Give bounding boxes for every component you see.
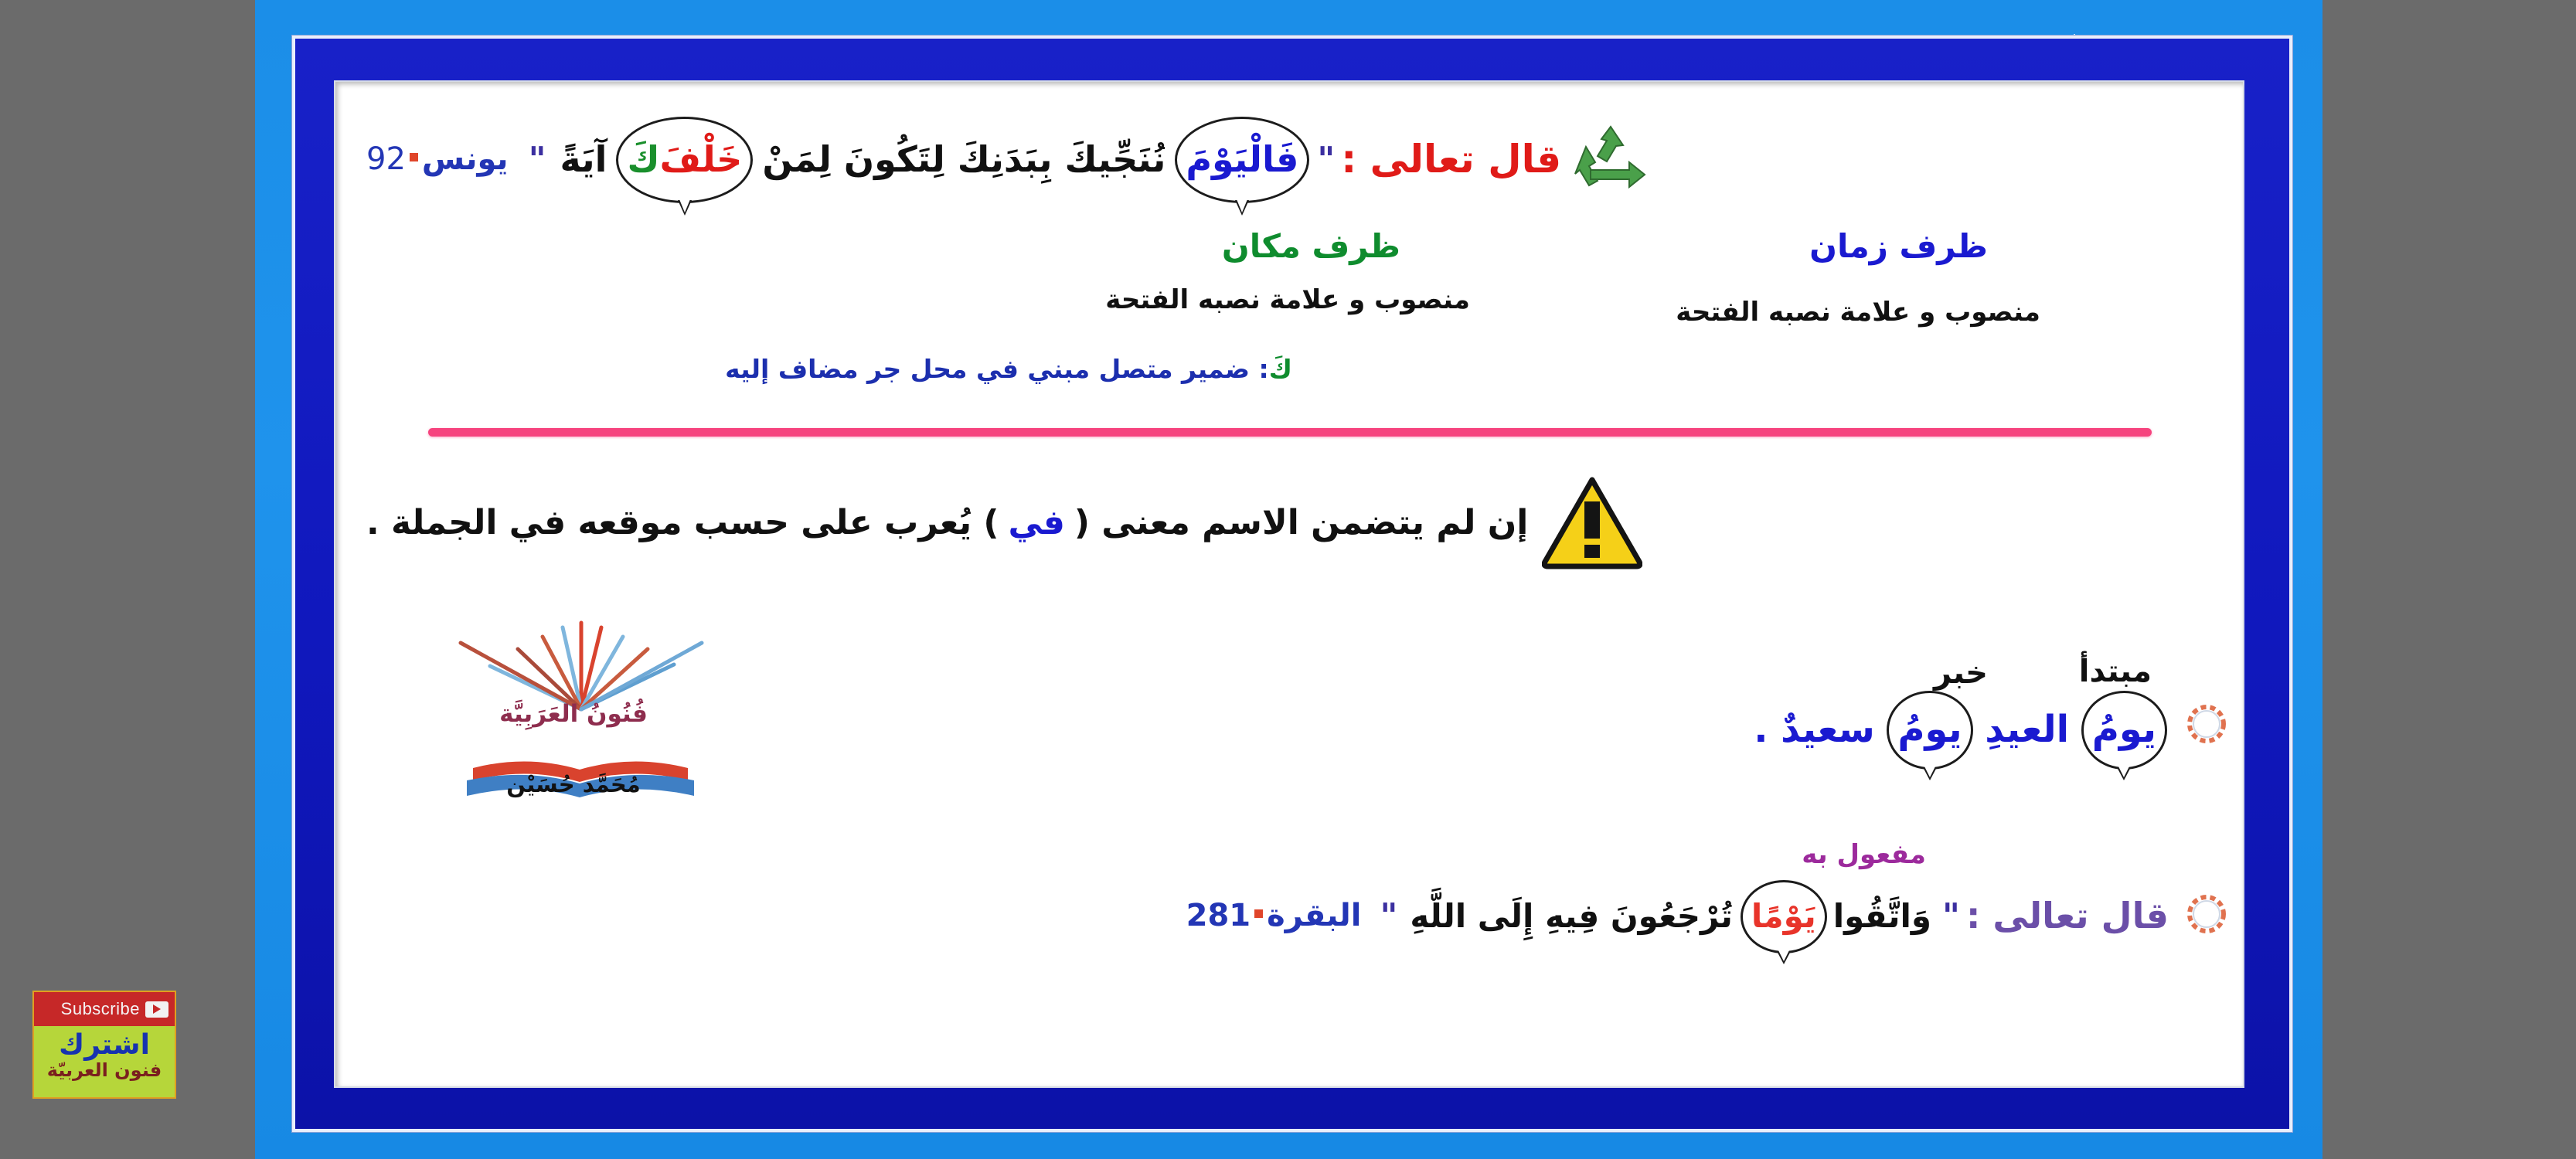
subscribe-button-bar[interactable]: Subscribe [34,992,175,1026]
ayah-row: قال تعالى : " فَالْيَوْمَ نُنَجِّيكَ بِب… [366,117,2195,201]
play-icon [145,1001,168,1018]
word-faliyawma: فَالْيَوْمَ [1186,138,1298,180]
example1-sentence: يومُ العيدِ يومُ سعيدٌ . [1747,706,2169,753]
example2-sentence: قال تعالى : " وَاتَّقُوا يَوْمًا تُرْجَع… [1186,895,2169,936]
bubble-tail [678,200,692,216]
close-quote-2: " [1380,896,1397,936]
bubble-tail [1777,951,1791,964]
pronoun-ka-glyph: كَ [1269,354,1292,384]
rule-text-part1: إن لم يتضمن الاسم معنى ( [1074,503,1528,542]
word-aleed: العيدِ [1985,708,2069,751]
label-pronoun-analysis: كَ: ضمير متصل مبني في محل جر مضاف إليه [725,354,1292,384]
rule-row: إن لم يتضمن الاسم معنى ( في ) يُعرب على … [366,468,2193,576]
label-zarf-makan: ظرف مكان [1222,227,1400,265]
close-quote-1: " [529,140,546,179]
rule-highlight-fi: في [1009,503,1065,542]
ayah-reference-number: 92 [366,141,406,177]
said-almighty-label-2: قال تعالى : [1966,895,2169,936]
rule-text-part2: ) يُعرب على حسب موقعه في الجملة . [366,503,999,542]
subscribe-badge[interactable]: Subscribe اشترك فنون العربيّة [32,991,176,1099]
reference-dot-separator [410,153,418,161]
label-khabar: خبر [1934,655,1988,691]
subscribe-brand-label: فنون العربيّة [34,1059,175,1081]
recycle-arrows-icon [1572,122,1649,196]
gear-ring-bullet-2 [2183,890,2231,938]
brand-author-signature: مُحَمَّد حُسَيْن [465,771,682,797]
label-mubtada: مبتدأ [2079,654,2152,689]
word-saeed: سعيدٌ . [1754,708,1875,751]
bubble-tail [1235,200,1249,216]
bubble-tail [2117,767,2131,780]
label-zarf-zaman: ظرف زمان [1809,227,1988,265]
brand-name-text: فُنُونُ العَرَبِيَّة [458,700,689,728]
word-yawmu-khabar: يومُ [1897,708,1962,751]
circled-word-faliyawma: فَالْيَوْمَ [1175,137,1309,182]
said-almighty-label-1: قال تعالى : [1341,137,1561,182]
circled-word-yawman: يَوْمًا [1741,896,1827,936]
label-mansoob-zaman: منصوب و علامة نصبه الفتحة [1676,297,2040,328]
ayah2-reference-surah: البقرة [1267,898,1361,933]
label-mansoob-makan: منصوب و علامة نصبه الفتحة [1105,284,1470,315]
word-khalfa: خَلْفَ [660,138,743,180]
play-triangle [153,1004,161,1014]
ayah2-text-segment-1: وَاتَّقُوا [1833,897,1931,935]
slide-content-page: قال تعالى : " فَالْيَوْمَ نُنَجِّيكَ بِب… [334,80,2244,1088]
circled-word-yawmu-mubtada: يومُ [2081,706,2167,753]
label-mafool-bihi: مفعول به [1802,839,1926,870]
word-yawmu-mubtada: يومُ [2092,708,2156,751]
pronoun-analysis-text: : ضمير متصل مبني في محل جر مضاف إليه [725,354,1269,384]
ayah2-reference-number: 281 [1186,898,1251,933]
ayah-text-segment-1: نُنَجِّيكَ بِبَدَنِكَ لِتَكُونَ لِمَنْ [762,138,1165,180]
bubble-tail [1923,767,1937,780]
word-yawman: يَوْمًا [1751,897,1816,935]
word-ka-suffix: كَ [627,138,659,180]
circled-word-khalfaka: خَلْفَكَ [616,137,753,182]
pink-divider-line [428,428,2152,437]
open-quote-1: " [1317,140,1335,179]
ayah-reference-surah: يونس [422,141,509,177]
ayah-text-segment-2: آيَةً [560,138,607,180]
gear-ring-bullet-1 [2183,700,2231,748]
warning-triangle-icon [1542,475,1642,569]
subscribe-arabic-label: اشترك [34,1029,175,1061]
circled-word-yawmu-khabar: يومُ [1887,706,1972,753]
reference-dot-separator-2 [1254,909,1263,918]
open-quote-2: " [1942,896,1960,936]
ayah2-text-segment-2: تُرْجَعُونَ فِيهِ إِلَى اللَّهِ [1410,897,1732,935]
slide-stage: قال تعالى : " فَالْيَوْمَ نُنَجِّيكَ بِب… [0,0,2576,1159]
subscribe-label: Subscribe [61,999,140,1019]
